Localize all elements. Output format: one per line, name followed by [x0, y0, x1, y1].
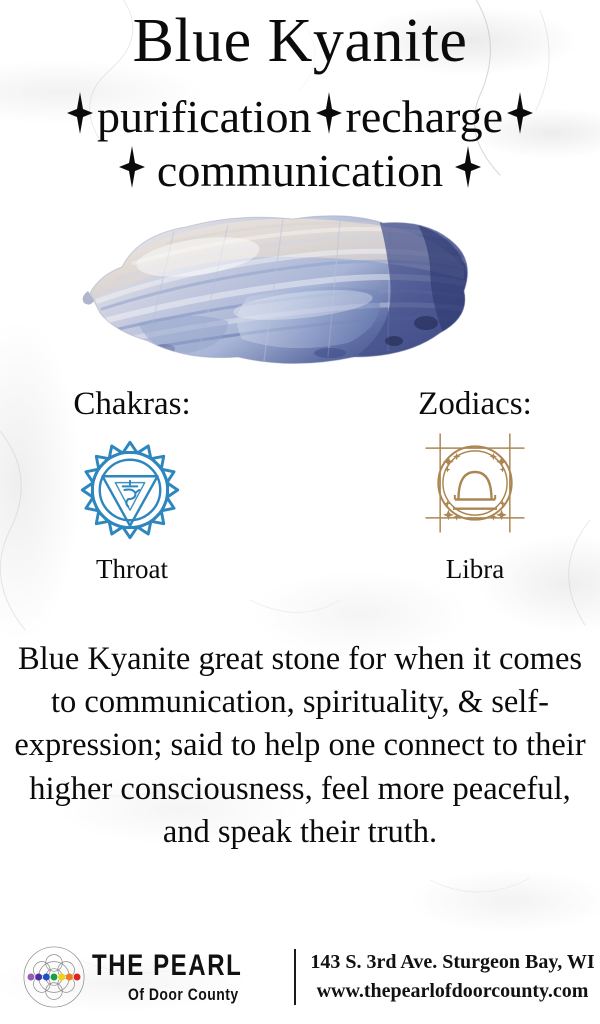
chakra-value: Throat [12, 556, 252, 583]
libra-zodiac-icon [420, 428, 530, 538]
zodiacs-heading: Zodiacs: [355, 388, 595, 421]
footer-divider-left [294, 949, 296, 1005]
chakras-heading: Chakras: [12, 388, 252, 421]
four-point-star-icon [67, 92, 93, 142]
keyword-recharge: recharge [346, 91, 503, 142]
page-title: Blue Kyanite [0, 10, 600, 72]
four-point-star-icon [507, 92, 533, 142]
brand-wordmark: THE PEARL Of Door County [92, 951, 280, 1003]
four-point-star-icon [455, 146, 481, 196]
keyword-communication: communication [157, 145, 443, 196]
contact-info: 143 S. 3rd Ave. Sturgeon Bay, WI www.the… [310, 948, 595, 1006]
flower-of-life-chakra-logo-icon [22, 945, 86, 1009]
brand-line-2: Of Door County [128, 986, 253, 1003]
keyword-line-1: purification recharge [0, 92, 600, 142]
chakra-dots [28, 974, 81, 981]
description-text: Blue Kyanite great stone for when it com… [14, 638, 586, 854]
throat-chakra-icon [75, 435, 185, 545]
crystal-image [78, 205, 478, 380]
keyword-purification: purification [97, 91, 312, 142]
four-point-star-icon [316, 92, 342, 142]
address-text: 143 S. 3rd Ave. Sturgeon Bay, WI [310, 948, 595, 977]
crystal-info-card: Blue Kyanite purification recharge commu… [0, 0, 600, 1024]
four-point-star-icon [119, 146, 145, 196]
website-text[interactable]: www.thepearlofdoorcounty.com [310, 977, 595, 1006]
footer-bar: THE PEARL Of Door County 143 S. 3rd Ave.… [0, 930, 600, 1024]
keyword-line-2: communication [0, 146, 600, 196]
brand-line-1: THE PEARL [92, 951, 242, 981]
zodiac-value: Libra [355, 556, 595, 583]
